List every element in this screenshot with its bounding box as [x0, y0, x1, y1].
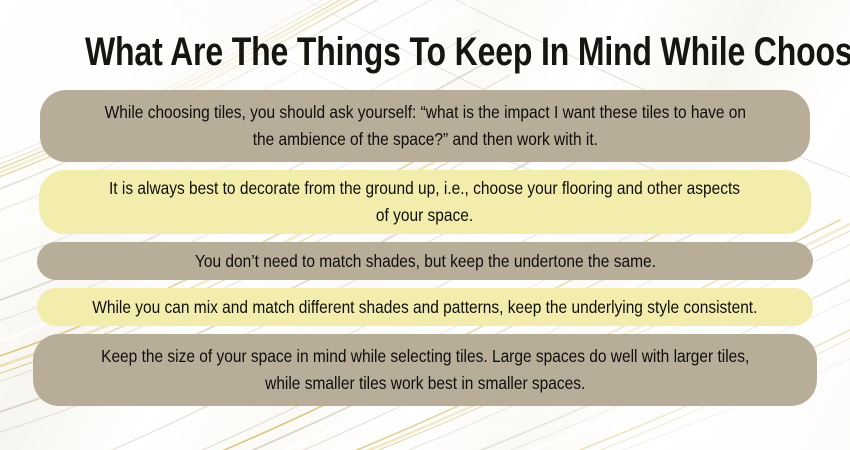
tip-item-1: While choosing tiles, you should ask you… — [40, 90, 810, 162]
tip-text-4: While you can mix and match different sh… — [84, 296, 767, 318]
infographic-poster: What Are The Things To Keep In Mind Whil… — [0, 0, 850, 450]
tip-text-5: Keep the size of your space in mind whil… — [92, 343, 758, 397]
tip-item-5: Keep the size of your space in mind whil… — [33, 334, 817, 406]
tip-text-1: While choosing tiles, you should ask you… — [95, 99, 754, 153]
tip-text-2: It is always best to decorate from the g… — [101, 175, 750, 229]
tip-item-2: It is always best to decorate from the g… — [39, 170, 811, 234]
tip-item-3: You don’t need to match shades, but keep… — [37, 242, 813, 280]
poster-content: What Are The Things To Keep In Mind Whil… — [0, 0, 850, 450]
tip-text-3: You don’t need to match shades, but keep… — [186, 250, 665, 272]
tips-list: While choosing tiles, you should ask you… — [0, 90, 850, 406]
page-title: What Are The Things To Keep In Mind Whil… — [85, 30, 765, 74]
tip-item-4: While you can mix and match different sh… — [37, 288, 813, 326]
